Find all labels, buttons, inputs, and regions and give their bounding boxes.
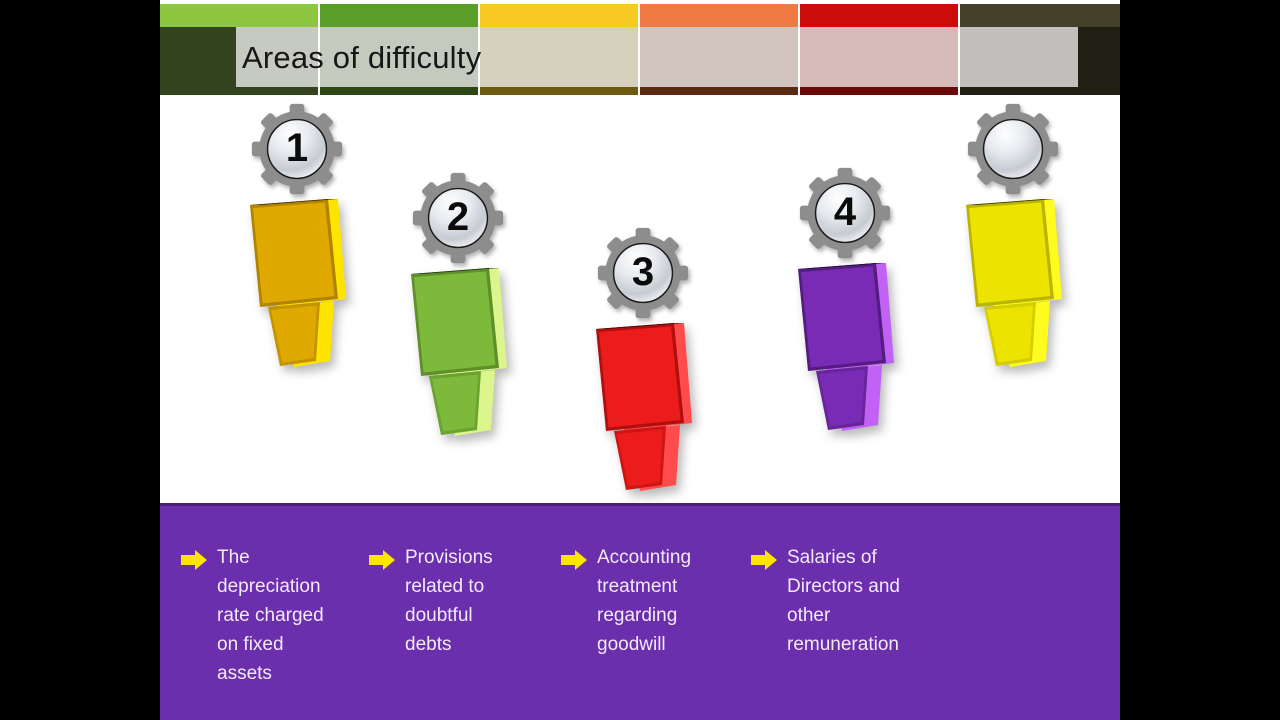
header-bright-bar-2 xyxy=(320,4,478,27)
letterbox-right xyxy=(1120,0,1280,720)
gear-number-5 xyxy=(967,103,1059,195)
figure-body-4 xyxy=(790,253,900,438)
arrow-right-icon xyxy=(368,549,396,571)
slide-header: Areas of difficulty xyxy=(160,0,1120,95)
header-bright-bar-4 xyxy=(640,4,798,27)
bullet-text: The depreciation rate charged on fixed a… xyxy=(217,543,330,688)
gear-icon: 3 xyxy=(597,227,689,319)
arrow-right-icon xyxy=(180,549,208,571)
band-top-edge xyxy=(160,503,1120,506)
page-title: Areas of difficulty xyxy=(242,30,942,86)
gear-icon: 2 xyxy=(412,172,504,264)
bullet-text: Accounting treatment regarding goodwill xyxy=(597,543,700,659)
header-bright-bar-1 xyxy=(160,4,318,27)
bullets-band: The depreciation rate charged on fixed a… xyxy=(160,503,1120,720)
figure-body-3 xyxy=(588,313,698,498)
bullet-4[interactable]: Salaries of Directors and other remunera… xyxy=(750,543,905,659)
bullet-text: Provisions related to doubtful debts xyxy=(405,543,508,659)
figure-body-5 xyxy=(958,189,1068,374)
header-bright-bar-3 xyxy=(480,4,638,27)
figure-1[interactable]: 1 xyxy=(242,103,352,374)
gear-number-2: 2 xyxy=(412,172,504,264)
gear-number-3: 3 xyxy=(597,227,689,319)
gear-number-1: 1 xyxy=(251,103,343,195)
letterbox-left xyxy=(0,0,160,720)
gear-icon: 4 xyxy=(799,167,891,259)
figure-3[interactable]: 3 xyxy=(588,227,698,498)
gear-icon xyxy=(967,103,1059,195)
arrow-right-icon xyxy=(750,549,778,571)
figure-body-2 xyxy=(403,258,513,443)
figure-2[interactable]: 2 xyxy=(403,172,513,443)
header-bright-bar-6 xyxy=(960,4,1120,27)
presentation-slide: Areas of difficulty xyxy=(160,0,1120,720)
gear-icon: 1 xyxy=(251,103,343,195)
arrow-right-icon xyxy=(560,549,588,571)
bullet-text: Salaries of Directors and other remunera… xyxy=(787,543,905,659)
bullet-2[interactable]: Provisions related to doubtful debts xyxy=(368,543,508,659)
bullet-1[interactable]: The depreciation rate charged on fixed a… xyxy=(180,543,330,688)
figure-5[interactable] xyxy=(958,103,1068,374)
bullet-3[interactable]: Accounting treatment regarding goodwill xyxy=(560,543,700,659)
figure-body-1 xyxy=(242,189,352,374)
figure-4[interactable]: 4 xyxy=(790,167,900,438)
gear-number-4: 4 xyxy=(799,167,891,259)
screen: Areas of difficulty xyxy=(0,0,1280,720)
header-bright-bar-5 xyxy=(800,4,958,27)
